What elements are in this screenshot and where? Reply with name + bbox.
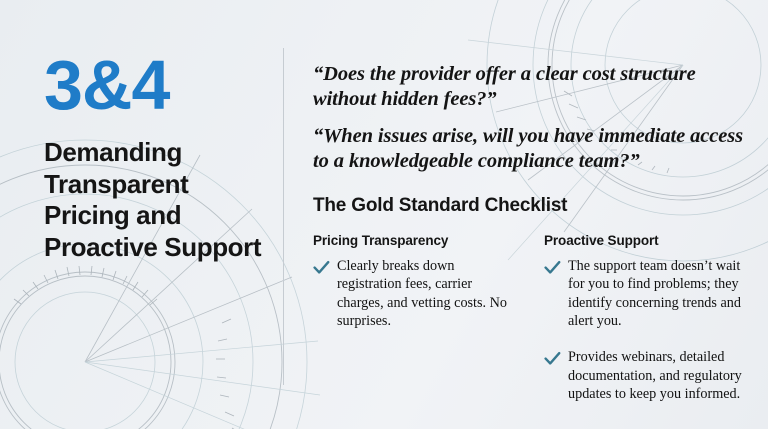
check-icon bbox=[544, 351, 561, 368]
checklist-column-proactive-support: Proactive Support The support team doesn… bbox=[544, 233, 749, 404]
check-icon bbox=[313, 260, 330, 277]
checklist-title: The Gold Standard Checklist bbox=[313, 195, 758, 217]
vertical-divider bbox=[283, 48, 284, 385]
list-item-text: Provides webinars, detailed documentatio… bbox=[568, 348, 749, 403]
list-item: Clearly breaks down registration fees, c… bbox=[313, 257, 518, 331]
column-heading: Proactive Support bbox=[544, 233, 749, 248]
section-numbers: 3&4 bbox=[44, 52, 269, 120]
right-content-panel: “Does the provider offer a clear cost st… bbox=[313, 62, 758, 404]
page-title: Demanding Transparent Pricing and Proact… bbox=[44, 137, 269, 264]
check-icon bbox=[544, 260, 561, 277]
column-heading: Pricing Transparency bbox=[313, 233, 518, 248]
list-item: The support team doesn’t wait for you to… bbox=[544, 257, 749, 331]
slide-canvas: 3&4 Demanding Transparent Pricing and Pr… bbox=[0, 0, 768, 429]
left-title-panel: 3&4 Demanding Transparent Pricing and Pr… bbox=[44, 52, 269, 264]
list-item-text: Clearly breaks down registration fees, c… bbox=[337, 257, 518, 331]
quote-2: “When issues arise, will you have immedi… bbox=[313, 124, 758, 175]
checklist-column-pricing-transparency: Pricing Transparency Clearly breaks down… bbox=[313, 233, 518, 404]
list-item-text: The support team doesn’t wait for you to… bbox=[568, 257, 749, 331]
checklist-columns: Pricing Transparency Clearly breaks down… bbox=[313, 233, 758, 404]
quote-1: “Does the provider offer a clear cost st… bbox=[313, 62, 758, 113]
list-item: Provides webinars, detailed documentatio… bbox=[544, 348, 749, 403]
